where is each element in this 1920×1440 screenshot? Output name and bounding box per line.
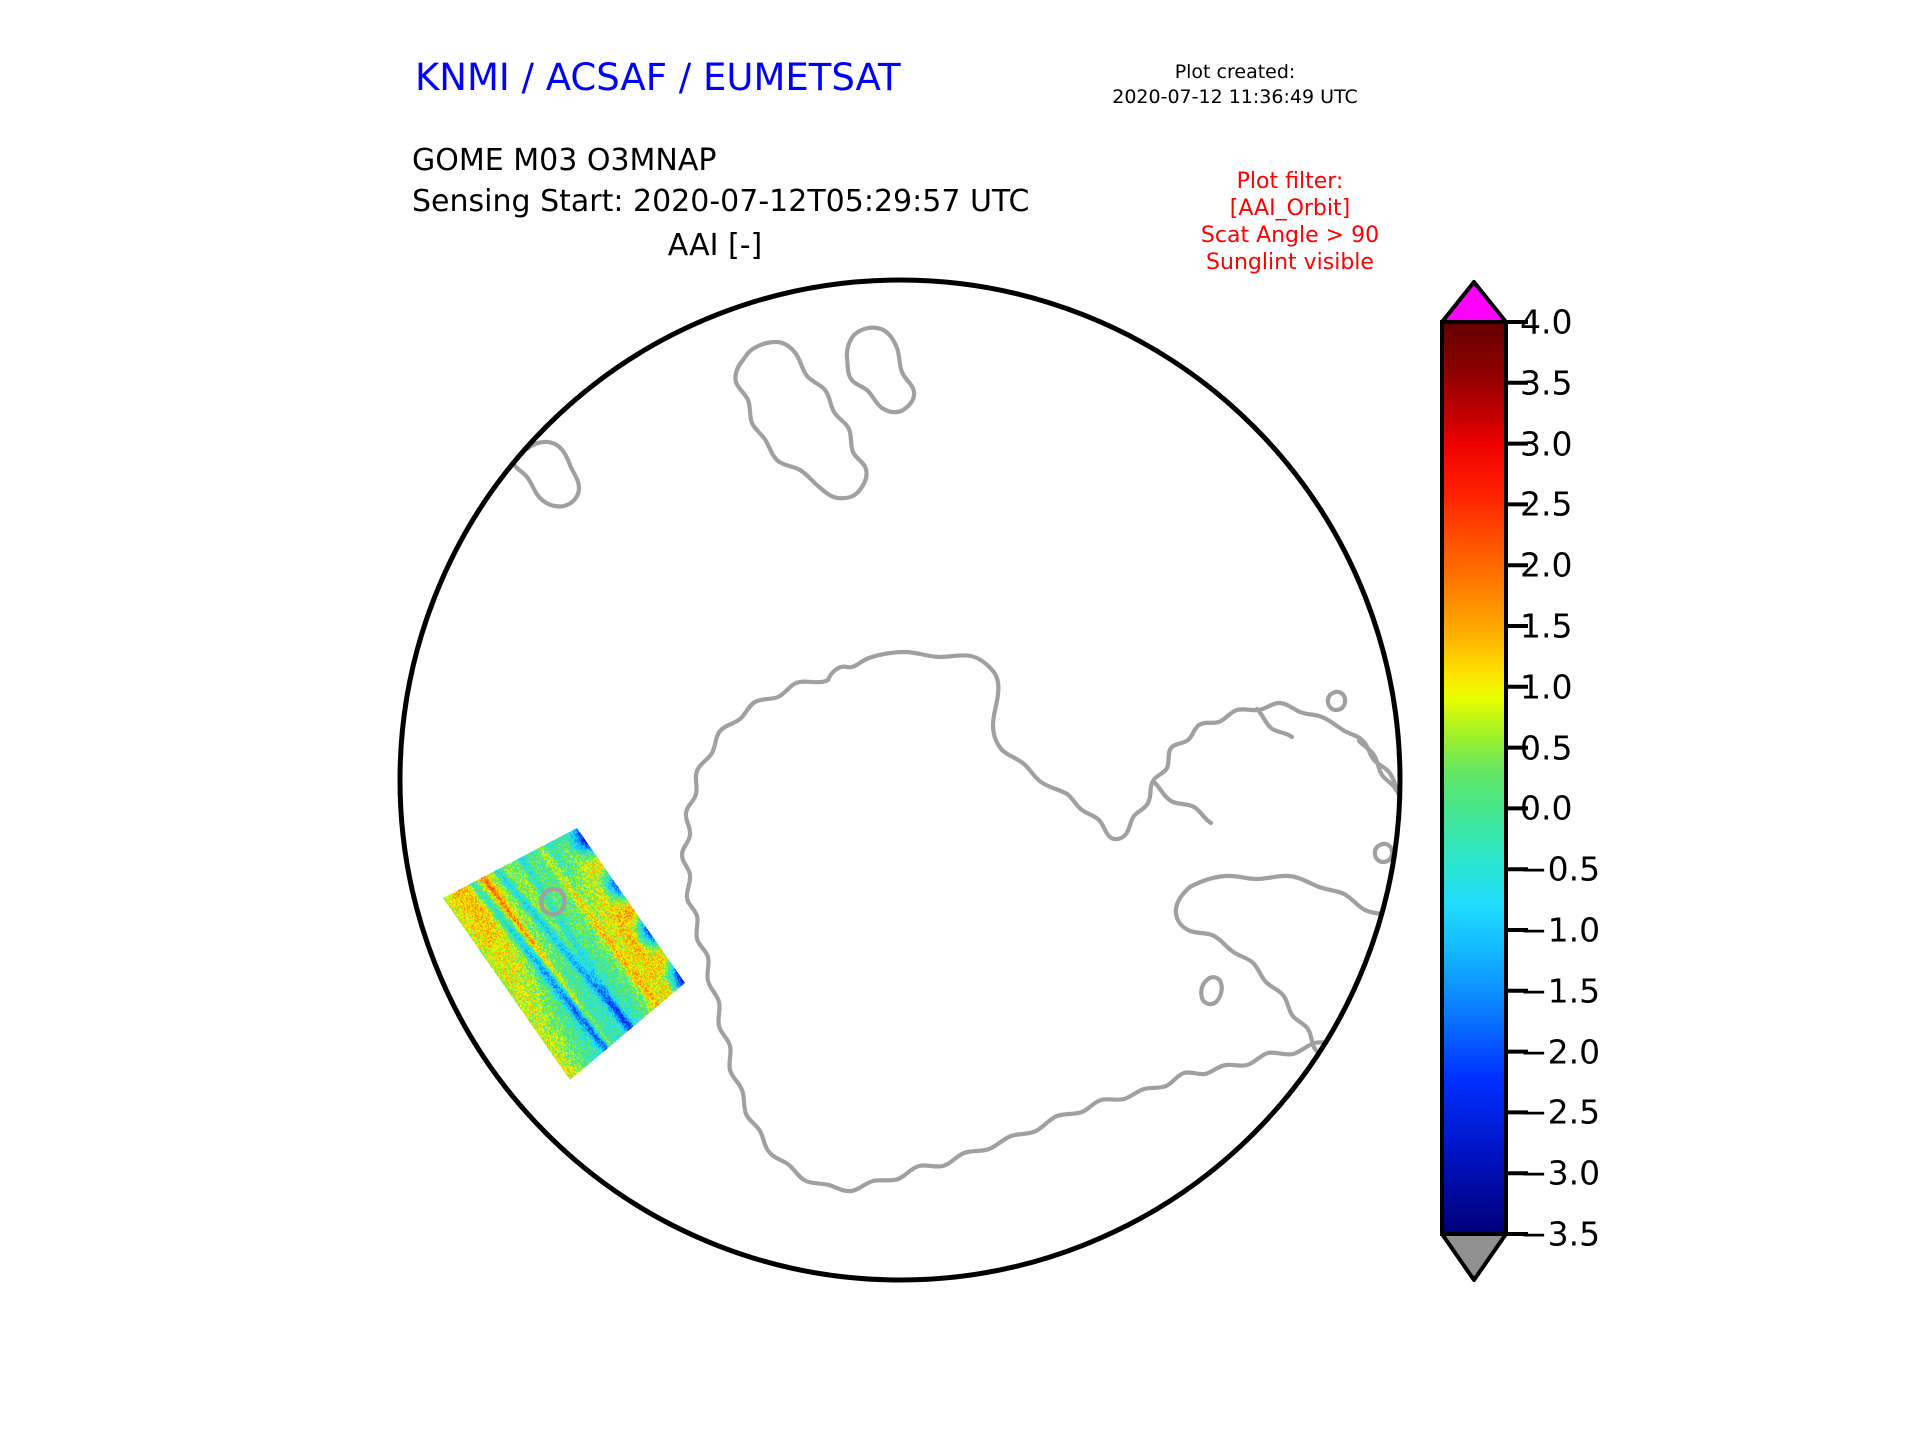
colorbar-tick-label: 1.0 xyxy=(1520,670,1572,703)
colorbar-tick-label: 2.5 xyxy=(1520,488,1572,521)
plot-filter-line-2: Scat Angle > 90 xyxy=(1130,222,1450,249)
colorbar-tick-label: 2.0 xyxy=(1520,549,1572,582)
colorbar-tick-label: −0.5 xyxy=(1520,853,1600,886)
colorbar-tick-label: 0.5 xyxy=(1520,731,1572,764)
plot-page: KNMI / ACSAF / EUMETSAT Plot created: 20… xyxy=(0,0,1920,1440)
plot-filter-line-1: [AAI_Orbit] xyxy=(1130,195,1450,222)
colorbar-under-range-arrow xyxy=(1442,1234,1506,1280)
polar-map xyxy=(395,275,1405,1285)
colorbar-tick-label: −1.5 xyxy=(1520,974,1600,1007)
colorbar-over-range-arrow xyxy=(1442,282,1506,322)
instrument-product-line: GOME M03 O3MNAP xyxy=(412,140,1029,181)
organisation-title: KNMI / ACSAF / EUMETSAT xyxy=(415,56,901,99)
colorbar-tick-label: 4.0 xyxy=(1520,306,1572,339)
colorbar-tick-label: −2.5 xyxy=(1520,1096,1600,1129)
colorbar-tick-label: 3.5 xyxy=(1520,366,1572,399)
plot-filter-title: Plot filter: xyxy=(1130,168,1450,195)
colorbar-tick-label: 0.0 xyxy=(1520,792,1572,825)
map-canvas xyxy=(395,275,1405,1285)
colorbar-tick-label: 1.5 xyxy=(1520,610,1572,643)
colorbar-tick-label: −1.0 xyxy=(1520,914,1600,947)
product-info-block: GOME M03 O3MNAP Sensing Start: 2020-07-1… xyxy=(412,140,1029,222)
coastline-australia-edge xyxy=(435,362,473,413)
sensing-start-line: Sensing Start: 2020-07-12T05:29:57 UTC xyxy=(412,181,1029,222)
plot-filter-line-3: Sunglint visible xyxy=(1130,249,1450,276)
colorbar-tick-label: −3.5 xyxy=(1520,1218,1600,1251)
colorbar-gradient-bar xyxy=(1442,322,1506,1234)
plot-created-block: Plot created: 2020-07-12 11:36:49 UTC xyxy=(1030,60,1440,110)
globe-disc xyxy=(400,280,1400,1280)
plot-created-label: Plot created: xyxy=(1030,60,1440,85)
colorbar-tick-label: −3.0 xyxy=(1520,1157,1600,1190)
plot-filter-block: Plot filter: [AAI_Orbit] Scat Angle > 90… xyxy=(1130,168,1450,276)
coastline-tierra-del-fuego xyxy=(1397,919,1405,938)
colorbar-canvas xyxy=(1428,280,1868,1310)
colorbar: 4.03.53.02.52.01.51.00.50.0−0.5−1.0−1.5−… xyxy=(1428,280,1868,1310)
colorbar-tick-label: −2.0 xyxy=(1520,1035,1600,1068)
colorbar-tick-label: 3.0 xyxy=(1520,427,1572,460)
plot-created-timestamp: 2020-07-12 11:36:49 UTC xyxy=(1030,85,1440,110)
